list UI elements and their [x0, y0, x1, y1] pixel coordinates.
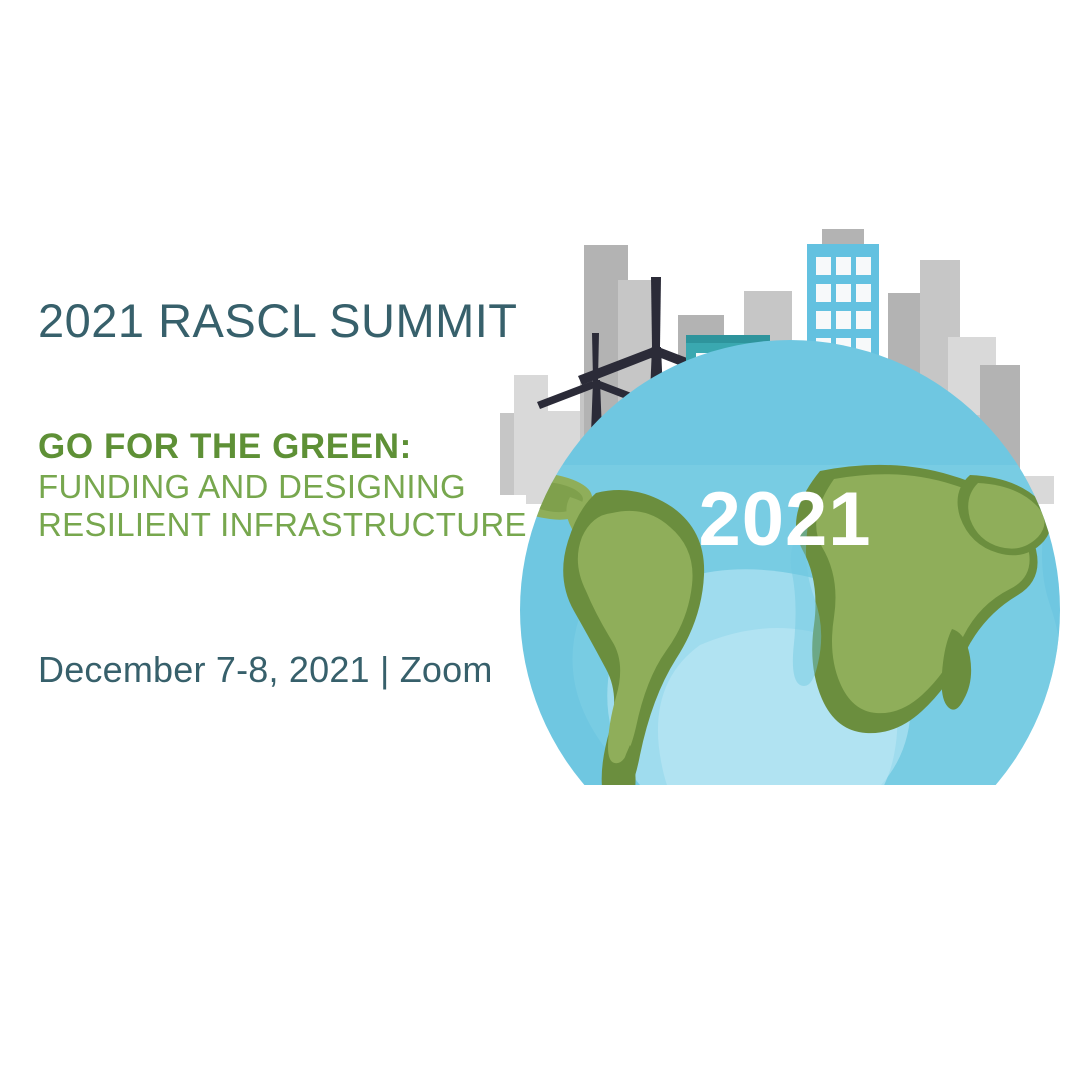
poster-text-block: 2021 RASCL SUMMIT GO FOR THE GREEN: FUND… — [38, 296, 558, 691]
event-date-location: December 7-8, 2021 | Zoom — [38, 649, 558, 691]
theme-subheadline-line-1: FUNDING AND DESIGNING — [38, 468, 558, 506]
theme-subheadline: FUNDING AND DESIGNING RESILIENT INFRASTR… — [38, 468, 558, 545]
globe-year-label: 2021 — [698, 477, 871, 562]
earth-city-illustration: 2021 — [500, 225, 1080, 785]
theme-subheadline-line-2: RESILIENT INFRASTRUCTURE — [38, 506, 558, 544]
poster-canvas: 2021 RASCL SUMMIT GO FOR THE GREEN: FUND… — [0, 0, 1080, 1080]
theme-headline: GO FOR THE GREEN: — [38, 429, 558, 466]
theme-block: GO FOR THE GREEN: FUNDING AND DESIGNING … — [38, 429, 558, 544]
page-title: 2021 RASCL SUMMIT — [38, 296, 558, 345]
